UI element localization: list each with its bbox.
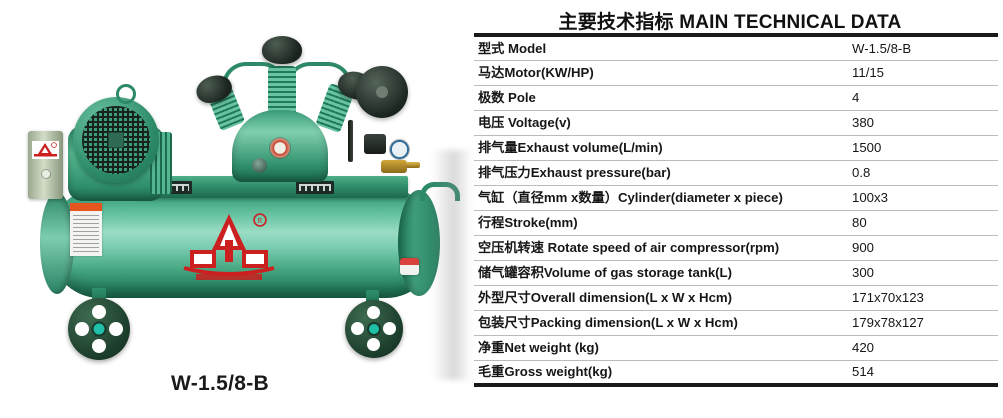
wheel-front-hub <box>94 324 105 335</box>
spec-label: 空压机转速 Rotate speed of air compressor(rpm… <box>474 235 844 260</box>
table-row: 型式 ModelW-1.5/8-B <box>474 35 998 60</box>
page-title: 主要技术指标 MAIN TECHNICAL DATA <box>470 7 990 34</box>
spec-value: 100x3 <box>844 185 998 210</box>
wheel-rear-hub <box>369 324 379 334</box>
product-image-panel: R <box>0 0 470 418</box>
warning-sticker <box>70 203 102 256</box>
table-row: 电压 Voltage(v)380 <box>474 110 998 135</box>
compressor-crankcase <box>232 110 328 182</box>
specification-table-wrapper: 型式 ModelW-1.5/8-B马达Motor(KW/HP)11/15极数 P… <box>474 33 986 387</box>
specification-table: 型式 ModelW-1.5/8-B马达Motor(KW/HP)11/15极数 P… <box>474 33 998 387</box>
specification-panel: 主要技术指标 MAIN TECHNICAL DATA 型式 ModelW-1.5… <box>470 0 1003 418</box>
spec-label: 包装尺寸Packing dimension(L x W x Hcm) <box>474 310 844 335</box>
warning-sticker-band <box>70 203 102 211</box>
spec-label: 行程Stroke(mm) <box>474 210 844 235</box>
spec-value: 4 <box>844 85 998 110</box>
spec-value: 80 <box>844 210 998 235</box>
pressure-gauge <box>390 140 409 159</box>
spec-value: 1500 <box>844 135 998 160</box>
table-row: 马达Motor(KW/HP)11/15 <box>474 60 998 85</box>
wheel-rear-hole-left <box>351 322 364 335</box>
table-row: 排气压力Exhaust pressure(bar)0.8 <box>474 160 998 185</box>
spec-label: 气缸（直径mm x数量）Cylinder(diameter x piece) <box>474 185 844 210</box>
spec-label: 极数 Pole <box>474 85 844 110</box>
tank-end-cap-left <box>40 192 74 294</box>
rail-nameplate-right <box>296 181 334 194</box>
wheel-front <box>68 298 130 360</box>
pump-badge-logo <box>270 138 290 158</box>
spec-value: 900 <box>844 235 998 260</box>
spec-label: 排气压力Exhaust pressure(bar) <box>474 160 844 185</box>
spec-label: 净重Net weight (kg) <box>474 335 844 360</box>
rail-nameplate-right-grid <box>299 184 331 191</box>
table-row: 排气量Exhaust volume(L/min)1500 <box>474 135 998 160</box>
wheel-front-hole-bottom <box>92 339 106 353</box>
motor-fan-center <box>109 133 124 148</box>
wheel-rear-hole-bottom <box>367 338 380 351</box>
wheel-rear <box>345 300 403 358</box>
warning-sticker-text-lines <box>73 215 99 253</box>
specification-table-body: 型式 ModelW-1.5/8-B马达Motor(KW/HP)11/15极数 P… <box>474 35 998 385</box>
safety-valve-body <box>381 160 407 173</box>
table-row: 外型尺寸Overall dimension(L x W x Hcm)171x70… <box>474 285 998 310</box>
table-row: 包装尺寸Packing dimension(L x W x Hcm)179x78… <box>474 310 998 335</box>
spec-value: 514 <box>844 360 998 385</box>
flywheel <box>356 66 408 118</box>
spec-value: 300 <box>844 260 998 285</box>
control-box-button[interactable] <box>42 170 50 178</box>
motor-fan-grille <box>82 106 150 174</box>
spec-label: 电压 Voltage(v) <box>474 110 844 135</box>
svg-text:R: R <box>258 217 263 225</box>
discharge-tube <box>348 120 353 162</box>
table-row: 行程Stroke(mm)80 <box>474 210 998 235</box>
brand-logo: R <box>176 210 282 286</box>
wheel-rear-hole-top <box>367 306 380 319</box>
spec-value: 11/15 <box>844 60 998 85</box>
air-filter-center <box>262 36 302 64</box>
spec-value: 171x70x123 <box>844 285 998 310</box>
spec-label: 外型尺寸Overall dimension(L x W x Hcm) <box>474 285 844 310</box>
spec-label: 储气罐容积Volume of gas storage tank(L) <box>474 260 844 285</box>
table-row: 净重Net weight (kg)420 <box>474 335 998 360</box>
spec-value: 420 <box>844 335 998 360</box>
wheel-front-hole-left <box>75 322 89 336</box>
motor-fan-cover <box>73 97 159 183</box>
pump-oil-sight-port <box>252 158 267 173</box>
spec-label: 排气量Exhaust volume(L/min) <box>474 135 844 160</box>
spec-label: 型式 Model <box>474 35 844 60</box>
tank-end-cap-right <box>398 190 440 296</box>
table-row: 储气罐容积Volume of gas storage tank(L)300 <box>474 260 998 285</box>
table-row: 毛重Gross weight(kg)514 <box>474 360 998 385</box>
table-row: 空压机转速 Rotate speed of air compressor(rpm… <box>474 235 998 260</box>
wheel-front-hole-top <box>92 305 106 319</box>
spec-label: 毛重Gross weight(kg) <box>474 360 844 385</box>
flywheel-hub <box>376 86 388 98</box>
pressure-switch[interactable] <box>364 134 386 154</box>
spec-value: W-1.5/8-B <box>844 35 998 60</box>
spec-value: 0.8 <box>844 160 998 185</box>
spec-value: 380 <box>844 110 998 135</box>
wheel-rear-hole-right <box>383 322 396 335</box>
control-box-logo <box>32 141 59 159</box>
control-box <box>28 131 63 199</box>
spec-label: 马达Motor(KW/HP) <box>474 60 844 85</box>
table-row: 气缸（直径mm x数量）Cylinder(diameter x piece)10… <box>474 185 998 210</box>
safety-valve-stem <box>406 162 420 168</box>
motor-lifting-eyebolt <box>116 84 136 104</box>
spec-value: 179x78x127 <box>844 310 998 335</box>
table-row: 极数 Pole4 <box>474 85 998 110</box>
product-model-caption: W-1.5/8-B <box>0 372 440 396</box>
wheel-front-hole-right <box>109 322 123 336</box>
carry-handle <box>420 182 460 201</box>
tank-end-badge <box>400 258 419 275</box>
